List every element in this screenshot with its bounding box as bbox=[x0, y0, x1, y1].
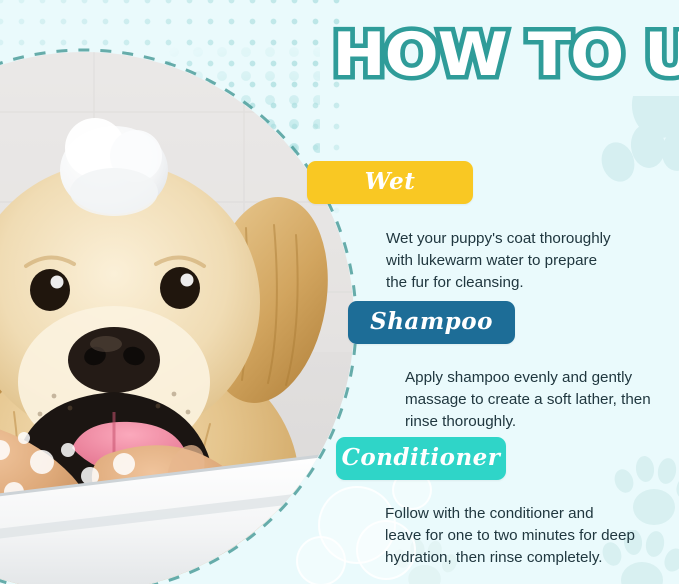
step-shampoo-badge[interactable]: Shampoo bbox=[348, 301, 515, 344]
step-wet-badge[interactable]: Wet bbox=[307, 161, 473, 204]
step-wet: Wet Wet your puppy's coat thoroughly wit… bbox=[307, 161, 611, 294]
step-conditioner-description: Follow with the conditioner and leave fo… bbox=[385, 503, 635, 569]
step-wet-description: Wet your puppy's coat thoroughly with lu… bbox=[386, 228, 611, 294]
puppy-bath-photo bbox=[0, 52, 354, 584]
step-shampoo-description: Apply shampoo evenly and gently massage … bbox=[405, 367, 651, 433]
how-to-use-infographic: HOW TO USE Wet Wet your puppy's coat tho… bbox=[0, 0, 679, 584]
page-title: HOW TO USE bbox=[332, 24, 671, 86]
step-conditioner: Conditioner Follow with the conditioner … bbox=[336, 437, 635, 569]
step-shampoo: Shampoo Apply shampoo evenly and gently … bbox=[348, 301, 651, 433]
step-conditioner-badge[interactable]: Conditioner bbox=[336, 437, 506, 480]
